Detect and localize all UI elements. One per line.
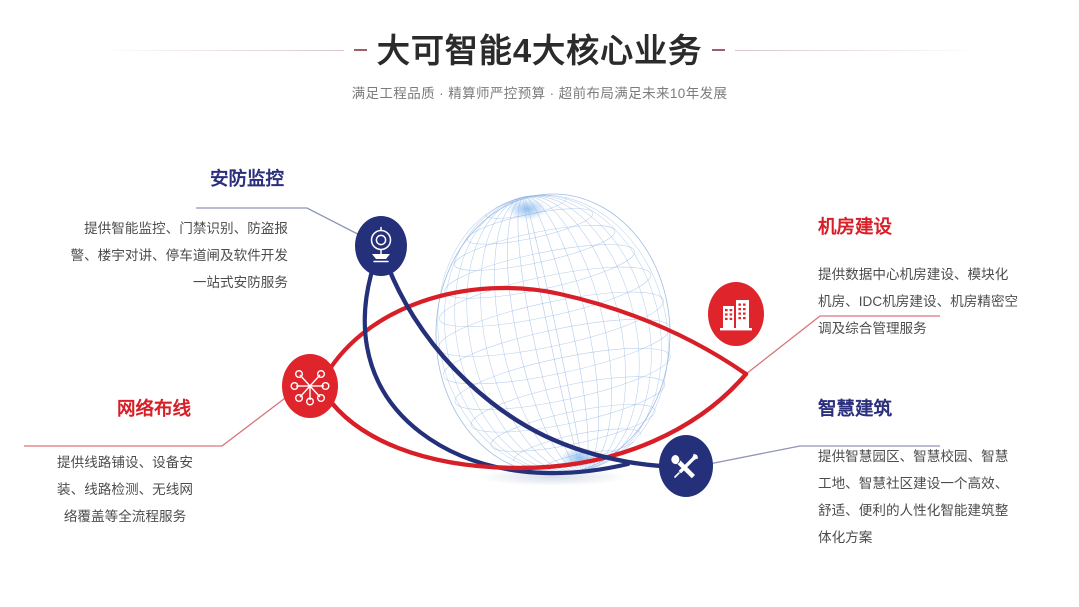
service-block-security: 安防监控 提供智能监控、门禁识别、防盗报 警、楼宇对讲、停车道闸及软件开发 一站… <box>20 170 288 296</box>
title-dash-left <box>354 49 367 51</box>
wireframe-globe <box>411 173 696 496</box>
navy-orbit-back <box>365 246 628 473</box>
desc-line: 工地、智慧社区建设一个高效、 <box>818 470 1079 497</box>
service-description-smart-building: 提供智慧园区、智慧校园、智慧 工地、智慧社区建设一个高效、 舒适、便利的人性化智… <box>818 443 1079 552</box>
desc-line: 调及综合管理服务 <box>818 315 1079 342</box>
title-rule-left <box>112 50 344 51</box>
service-block-cabling: 网络布线 提供线路铺设、设备安 装、线路检测、无线网 络覆盖等全流程服务 <box>20 400 288 530</box>
title-rule-right <box>735 50 967 51</box>
title-dash-right <box>712 49 725 51</box>
desc-line: 体化方案 <box>818 524 1079 551</box>
service-block-computer-room: 机房建设 提供数据中心机房建设、模块化 机房、IDC机房建设、机房精密空 调及综… <box>818 218 1079 342</box>
service-description-computer-room: 提供数据中心机房建设、模块化 机房、IDC机房建设、机房精密空 调及综合管理服务 <box>818 261 1079 343</box>
page-subtitle: 满足工程品质 · 精算师严控预算 · 超前布局满足未来10年发展 <box>0 82 1079 102</box>
desc-line: 警、楼宇对讲、停车道闸及软件开发 <box>20 242 288 269</box>
service-title-security: 安防监控 <box>20 170 288 189</box>
desc-line: 一站式安防服务 <box>20 269 288 296</box>
desc-line: 提供线路铺设、设备安 <box>20 449 230 476</box>
service-title-smart-building: 智慧建筑 <box>818 400 1079 419</box>
page-header: 大可智能4大核心业务 满足工程品质 · 精算师严控预算 · 超前布局满足未来10… <box>0 0 1079 120</box>
service-description-security: 提供智能监控、门禁识别、防盗报 警、楼宇对讲、停车道闸及软件开发 一站式安防服务 <box>20 215 288 297</box>
desc-line: 舒适、便利的人性化智能建筑整 <box>818 497 1079 524</box>
service-title-cabling: 网络布线 <box>20 400 288 419</box>
desc-line: 装、线路检测、无线网 <box>20 476 230 503</box>
desc-line: 提供数据中心机房建设、模块化 <box>818 261 1079 288</box>
node-smart-building[interactable] <box>659 435 713 497</box>
desc-line: 提供智能监控、门禁识别、防盗报 <box>20 215 288 242</box>
desc-line: 络覆盖等全流程服务 <box>20 503 230 530</box>
node-security[interactable] <box>355 216 407 276</box>
desc-line: 提供智慧园区、智慧校园、智慧 <box>818 443 1079 470</box>
title-row: 大可智能4大核心业务 <box>0 26 1079 74</box>
desc-line: 机房、IDC机房建设、机房精密空 <box>818 288 1079 315</box>
node-cabling[interactable] <box>282 354 338 418</box>
globe-pole-north <box>507 198 547 220</box>
diagram-stage: 安防监控 提供智能监控、门禁识别、防盗报 警、楼宇对讲、停车道闸及软件开发 一站… <box>0 128 1079 607</box>
page-title: 大可智能4大核心业务 <box>377 34 702 67</box>
service-block-smart-building: 智慧建筑 提供智慧园区、智慧校园、智慧 工地、智慧社区建设一个高效、 舒适、便利… <box>818 400 1079 551</box>
node-computer-room[interactable] <box>708 282 764 346</box>
service-description-cabling: 提供线路铺设、设备安 装、线路检测、无线网 络覆盖等全流程服务 <box>20 449 230 531</box>
service-title-computer-room: 机房建设 <box>818 218 1079 237</box>
